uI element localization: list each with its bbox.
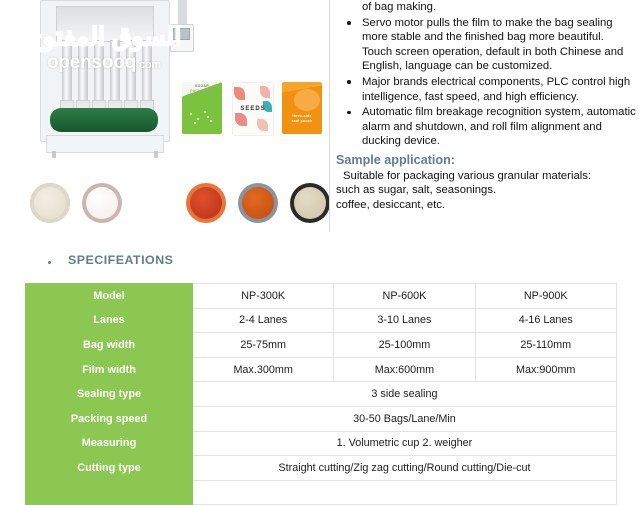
bullet-icon (48, 261, 51, 264)
sample-application-line: coffee, desiccant, etc. (336, 198, 636, 213)
spec-row-value: NP-600K (334, 284, 475, 309)
sample-application-heading: Sample application: (336, 153, 636, 168)
specifications-table: ModelNP-300KNP-600KNP-900KLanes2-4 Lanes… (25, 283, 617, 505)
spec-row-value: 2-4 Lanes (193, 308, 334, 333)
packaging-machine-photo (18, 0, 193, 158)
spec-row-label: Bag width (26, 333, 193, 358)
feature-item: Major brands electrical components, PLC … (336, 75, 636, 104)
feature-text-column: of bag making. Servo motor pulls the fil… (336, 0, 636, 246)
table-row: Packing speed30-50 Bags/Lane/Min (26, 406, 617, 431)
spec-row-value: 4-16 Lanes (475, 308, 616, 333)
table-row: ModelNP-300KNP-600KNP-900K (26, 284, 617, 309)
feature-item: Servo motor pulls the film to make the b… (336, 16, 636, 74)
pouch-three-side-seal-orange: three-side seal pouch (282, 82, 322, 134)
sample-application-line: such as sugar, salt, seasonings. (336, 183, 636, 198)
spec-row-value: Max:900mm (475, 357, 616, 382)
product-media-column: السوق المفتوح opensooq.com SUGAR PACKAGI… (0, 0, 330, 246)
bowl-white-sugar (82, 183, 122, 223)
pouch-seeds-label: SEEDS (240, 106, 265, 112)
spec-row-value: 3 side sealing (193, 382, 617, 407)
bowl-orange-paprika (238, 183, 278, 223)
spec-row-value: 25-75mm (193, 333, 334, 358)
feature-list: Servo motor pulls the film to make the b… (336, 16, 636, 149)
table-row: Film widthMax.300mmMax:600mmMax:900mm (26, 357, 617, 382)
table-row (26, 480, 617, 505)
specifications-table-body: ModelNP-300KNP-600KNP-900KLanes2-4 Lanes… (26, 284, 617, 505)
table-row: Measuring1. Volumetric cup 2. weigher (26, 431, 617, 456)
spec-row-value: 3-10 Lanes (334, 308, 475, 333)
bowl-oat-grain (290, 183, 330, 223)
specifications-heading-label: SPECIFEATIONS (68, 253, 173, 267)
column-divider (329, 0, 330, 232)
spec-row-value (193, 480, 617, 505)
granular-material-bowls (30, 183, 320, 231)
table-row: Cutting typeStraight cutting/Zig zag cut… (26, 456, 617, 481)
pouch-seeds-white: SEEDS (232, 82, 274, 136)
table-row: Sealing type3 side sealing (26, 382, 617, 407)
spec-row-value: 30-50 Bags/Lane/Min (193, 406, 617, 431)
spec-row-label: Sealing type (26, 382, 193, 407)
table-row: Lanes2-4 Lanes3-10 Lanes4-16 Lanes (26, 308, 617, 333)
spec-row-label: Model (26, 284, 193, 309)
table-row: Bag width25-75mm25-100mm25-110mm (26, 333, 617, 358)
spec-row-value: 1. Volumetric cup 2. weigher (193, 431, 617, 456)
sample-application-line: Suitable for packaging various granular … (336, 169, 636, 184)
spec-row-value: 25-110mm (475, 333, 616, 358)
spec-row-value: NP-900K (475, 284, 616, 309)
product-overview-section: السوق المفتوح opensooq.com SUGAR PACKAGI… (0, 0, 640, 246)
spec-row-value: Max:600mm (334, 357, 475, 382)
spec-row-label: Lanes (26, 308, 193, 333)
spec-row-label: Cutting type (26, 456, 193, 481)
bowl-red-chili-powder (186, 183, 226, 223)
spec-row-value: 25-100mm (334, 333, 475, 358)
pouch-sugar-green: SUGAR PACKAGING (182, 82, 222, 134)
feature-item: Automatic film breakage recognition syst… (336, 105, 636, 149)
spec-row-label (26, 480, 193, 505)
spec-row-label: Measuring (26, 431, 193, 456)
feature-continuation-line: of bag making. (362, 0, 636, 15)
spec-row-value: Straight cutting/Zig zag cutting/Round c… (193, 456, 617, 481)
spec-row-label: Film width (26, 357, 193, 382)
spec-row-value: Max.300mm (193, 357, 334, 382)
sample-pouches-group: SUGAR PACKAGING SEEDS three-side seal po… (182, 82, 322, 142)
bowl-white-granule (30, 183, 70, 223)
spec-row-value: NP-300K (193, 284, 334, 309)
spec-row-label: Packing speed (26, 406, 193, 431)
specifications-heading: SPECIFEATIONS (44, 253, 344, 273)
